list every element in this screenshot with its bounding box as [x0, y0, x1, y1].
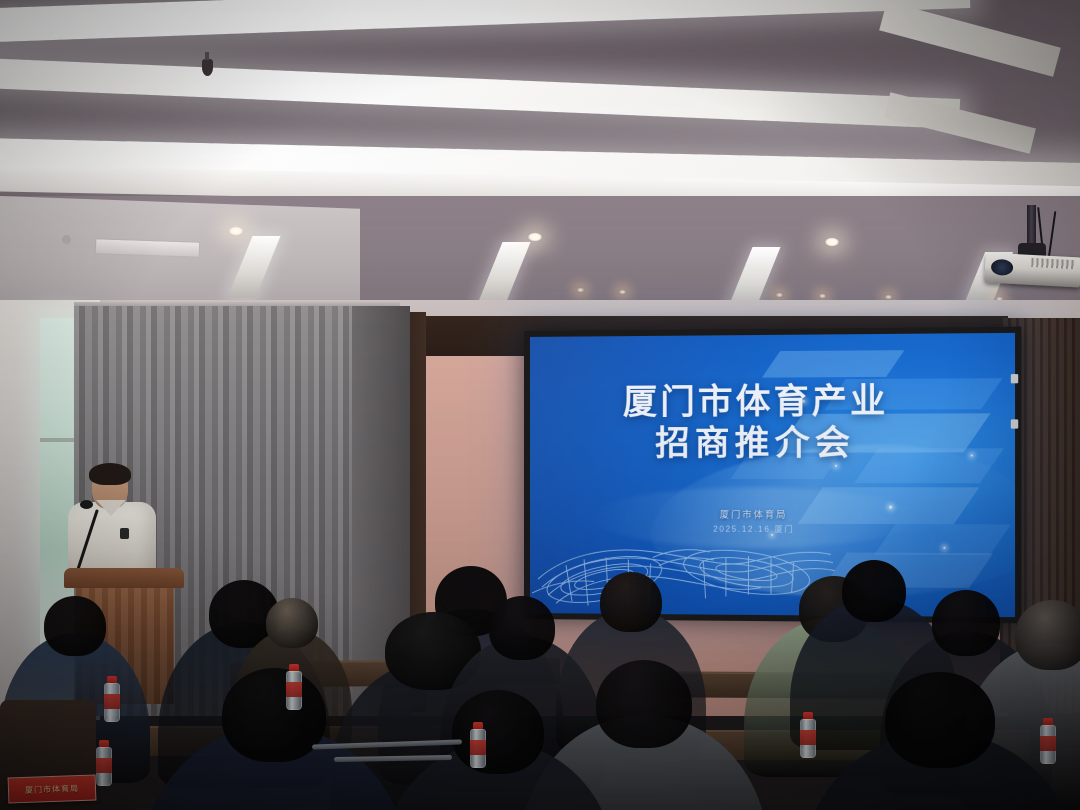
slide-sparkle-4	[943, 547, 945, 549]
presenter-hair	[89, 463, 131, 485]
water-bottle-7-label	[1040, 736, 1056, 751]
ceiling-downlight-7	[818, 293, 827, 299]
slide-title-line-1: 厦门市体育产业	[623, 382, 889, 422]
attendee-black-coat-2	[800, 672, 1080, 810]
water-bottle-6	[800, 712, 816, 758]
window-mullion	[40, 438, 74, 442]
water-bottle-3-label	[104, 694, 120, 709]
slide-title-line-2: 招商推介会	[530, 423, 985, 466]
water-bottle-6-label	[800, 730, 816, 745]
water-bottle-5	[470, 722, 486, 768]
projector-body-icon	[984, 253, 1080, 288]
attendee-grey-hair-head	[266, 598, 318, 648]
table-name-placard: 厦门市体育局	[8, 774, 97, 803]
attendee-black-coat-1	[140, 668, 408, 810]
slide-title: 厦门市体育产业 招商推介会	[530, 380, 1015, 466]
screen-bezel-button-1[interactable]	[1011, 374, 1018, 383]
sprinkler-icon	[62, 235, 71, 244]
slide-organizer: 厦门市体育局	[530, 507, 1015, 521]
attendee-grey-jacket-head	[1015, 600, 1080, 670]
ceiling-projector	[985, 205, 1080, 295]
water-bottle-5-label	[470, 740, 486, 755]
screen-bezel-button-2[interactable]	[1011, 419, 1018, 428]
table-name-placard-text: 厦门市体育局	[9, 776, 96, 805]
ceiling-downlight-1	[228, 226, 244, 236]
water-bottle-2	[96, 740, 112, 786]
water-bottle-2-label	[96, 758, 112, 773]
attendee-black-coat-1-head	[222, 668, 326, 762]
ceiling-downlight-2	[527, 232, 543, 242]
attendee-black-coat-2-head	[885, 672, 995, 768]
attendee-plaid-blue-head	[44, 596, 106, 656]
water-bottle-3	[104, 676, 120, 722]
water-bottle-7	[1040, 718, 1056, 764]
ceiling-downlight-5	[618, 289, 627, 295]
ceiling-downlight-3	[824, 237, 840, 247]
attendee-dark-back-head	[452, 690, 544, 774]
presenter-badge	[120, 528, 129, 539]
water-bottle-4-label	[286, 682, 302, 697]
presenter	[70, 466, 156, 576]
projector-cable-2	[1048, 211, 1057, 259]
conference-hall-photo: 厦门市体育产业 招商推介会 厦门市体育局 2025.12.16 厦门 厦	[0, 0, 1080, 810]
microphone-head-icon	[80, 500, 93, 509]
ceiling-downlight-6	[775, 292, 784, 298]
attendee-dark-suit-3-head	[489, 596, 555, 660]
slide-plane-1	[762, 350, 904, 377]
slide-date-location: 2025.12.16 厦门	[530, 523, 1015, 536]
attendee-bun-hair-head	[600, 572, 662, 632]
ceiling-downlight-4	[576, 287, 585, 293]
water-bottle-4	[286, 664, 302, 710]
attendee-dark-back	[380, 690, 616, 810]
smoke-detector-icon	[202, 59, 213, 76]
